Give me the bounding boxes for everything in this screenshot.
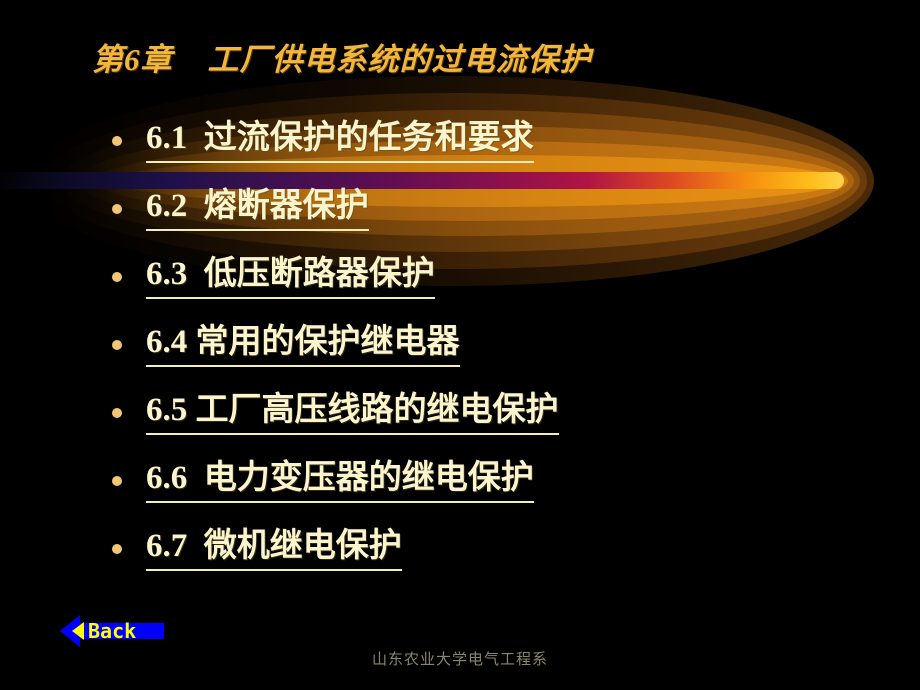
bullet-icon [112, 204, 122, 214]
toc-link-6-3[interactable]: 6.3 低压断路器保护 [146, 252, 435, 299]
bullet-icon [112, 408, 122, 418]
list-item: 6.7 微机继电保护 [108, 524, 848, 592]
toc-link-6-7[interactable]: 6.7 微机继电保护 [146, 524, 402, 571]
bullet-icon [112, 476, 122, 486]
bullet-icon [112, 340, 122, 350]
bullet-icon [112, 544, 122, 554]
list-item: 6.4 常用的保护继电器 [108, 320, 848, 388]
presentation-slide: 第6章 工厂供电系统的过电流保护 6.1 过流保护的任务和要求 6.2 熔断器保… [0, 0, 920, 690]
back-button[interactable]: Back [60, 612, 164, 650]
list-item: 6.2 熔断器保护 [108, 184, 848, 252]
toc-link-6-4[interactable]: 6.4 常用的保护继电器 [146, 320, 460, 367]
list-item: 6.1 过流保护的任务和要求 [108, 116, 848, 184]
toc-link-6-1[interactable]: 6.1 过流保护的任务和要求 [146, 116, 534, 163]
table-of-contents: 6.1 过流保护的任务和要求 6.2 熔断器保护 6.3 低压断路器保护 6.4… [108, 116, 848, 592]
list-item: 6.5 工厂高压线路的继电保护 [108, 388, 848, 456]
list-item: 6.6 电力变压器的继电保护 [108, 456, 848, 524]
toc-link-6-6[interactable]: 6.6 电力变压器的继电保护 [146, 456, 534, 503]
back-button-label: Back [88, 619, 136, 643]
bullet-icon [112, 272, 122, 282]
footer-text: 山东农业大学电气工程系 [0, 648, 920, 669]
bullet-icon [112, 136, 122, 146]
list-item: 6.3 低压断路器保护 [108, 252, 848, 320]
page-title: 第6章 工厂供电系统的过电流保护 [92, 40, 852, 80]
toc-link-6-5[interactable]: 6.5 工厂高压线路的继电保护 [146, 388, 559, 435]
toc-link-6-2[interactable]: 6.2 熔断器保护 [146, 184, 369, 231]
